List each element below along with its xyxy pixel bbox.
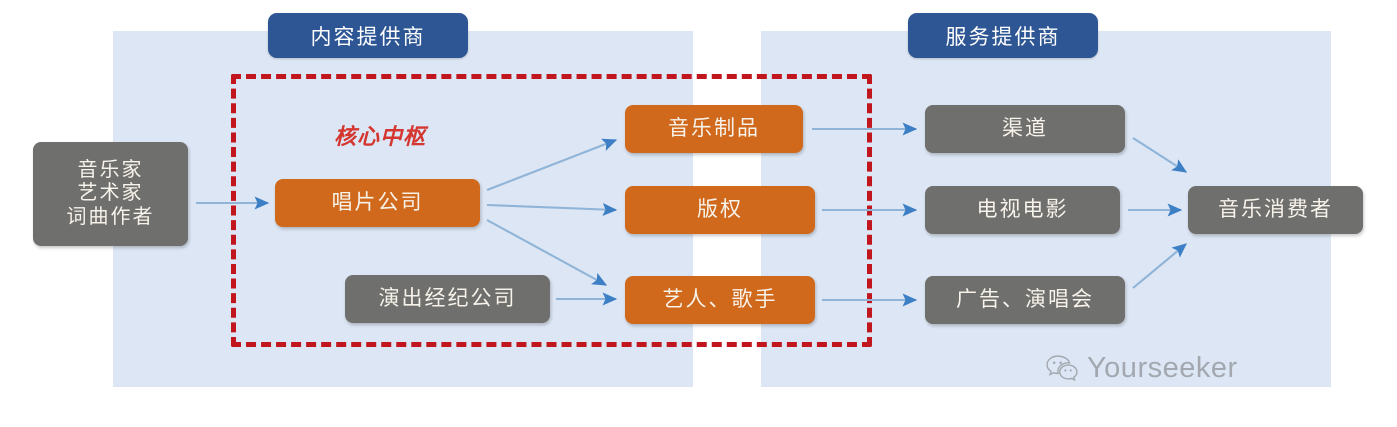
node-creators-line-1: 音乐家 — [78, 159, 144, 183]
node-music-products[interactable]: 音乐制品 — [625, 105, 803, 153]
watermark: Yourseeker — [1046, 352, 1238, 385]
node-tv-film[interactable]: 电视电影 — [925, 186, 1120, 234]
edge-channels-to-consumers — [1133, 138, 1186, 172]
watermark-text: Yourseeker — [1087, 352, 1238, 385]
node-record-label[interactable]: 唱片公司 — [275, 179, 480, 227]
node-music-consumers[interactable]: 音乐消费者 — [1188, 186, 1363, 234]
node-channels[interactable]: 渠道 — [925, 105, 1125, 153]
diagram-canvas: 内容提供商 服务提供商 核心中枢 音乐家 — [0, 0, 1397, 427]
node-creators[interactable]: 音乐家 艺术家 词曲作者 — [33, 142, 188, 246]
node-performance-agency[interactable]: 演出经纪公司 — [345, 275, 550, 323]
node-creators-line-2: 艺术家 — [78, 182, 144, 206]
edge-label-to-products — [487, 140, 616, 190]
edge-label-to-copyright — [487, 205, 616, 210]
node-artists-singers[interactable]: 艺人、歌手 — [625, 276, 815, 324]
node-ads-concerts[interactable]: 广告、演唱会 — [925, 276, 1125, 324]
node-creators-line-3: 词曲作者 — [67, 206, 155, 230]
wechat-icon — [1046, 355, 1078, 383]
node-copyright[interactable]: 版权 — [625, 186, 815, 234]
edge-adconcert-to-consumers — [1133, 244, 1186, 288]
